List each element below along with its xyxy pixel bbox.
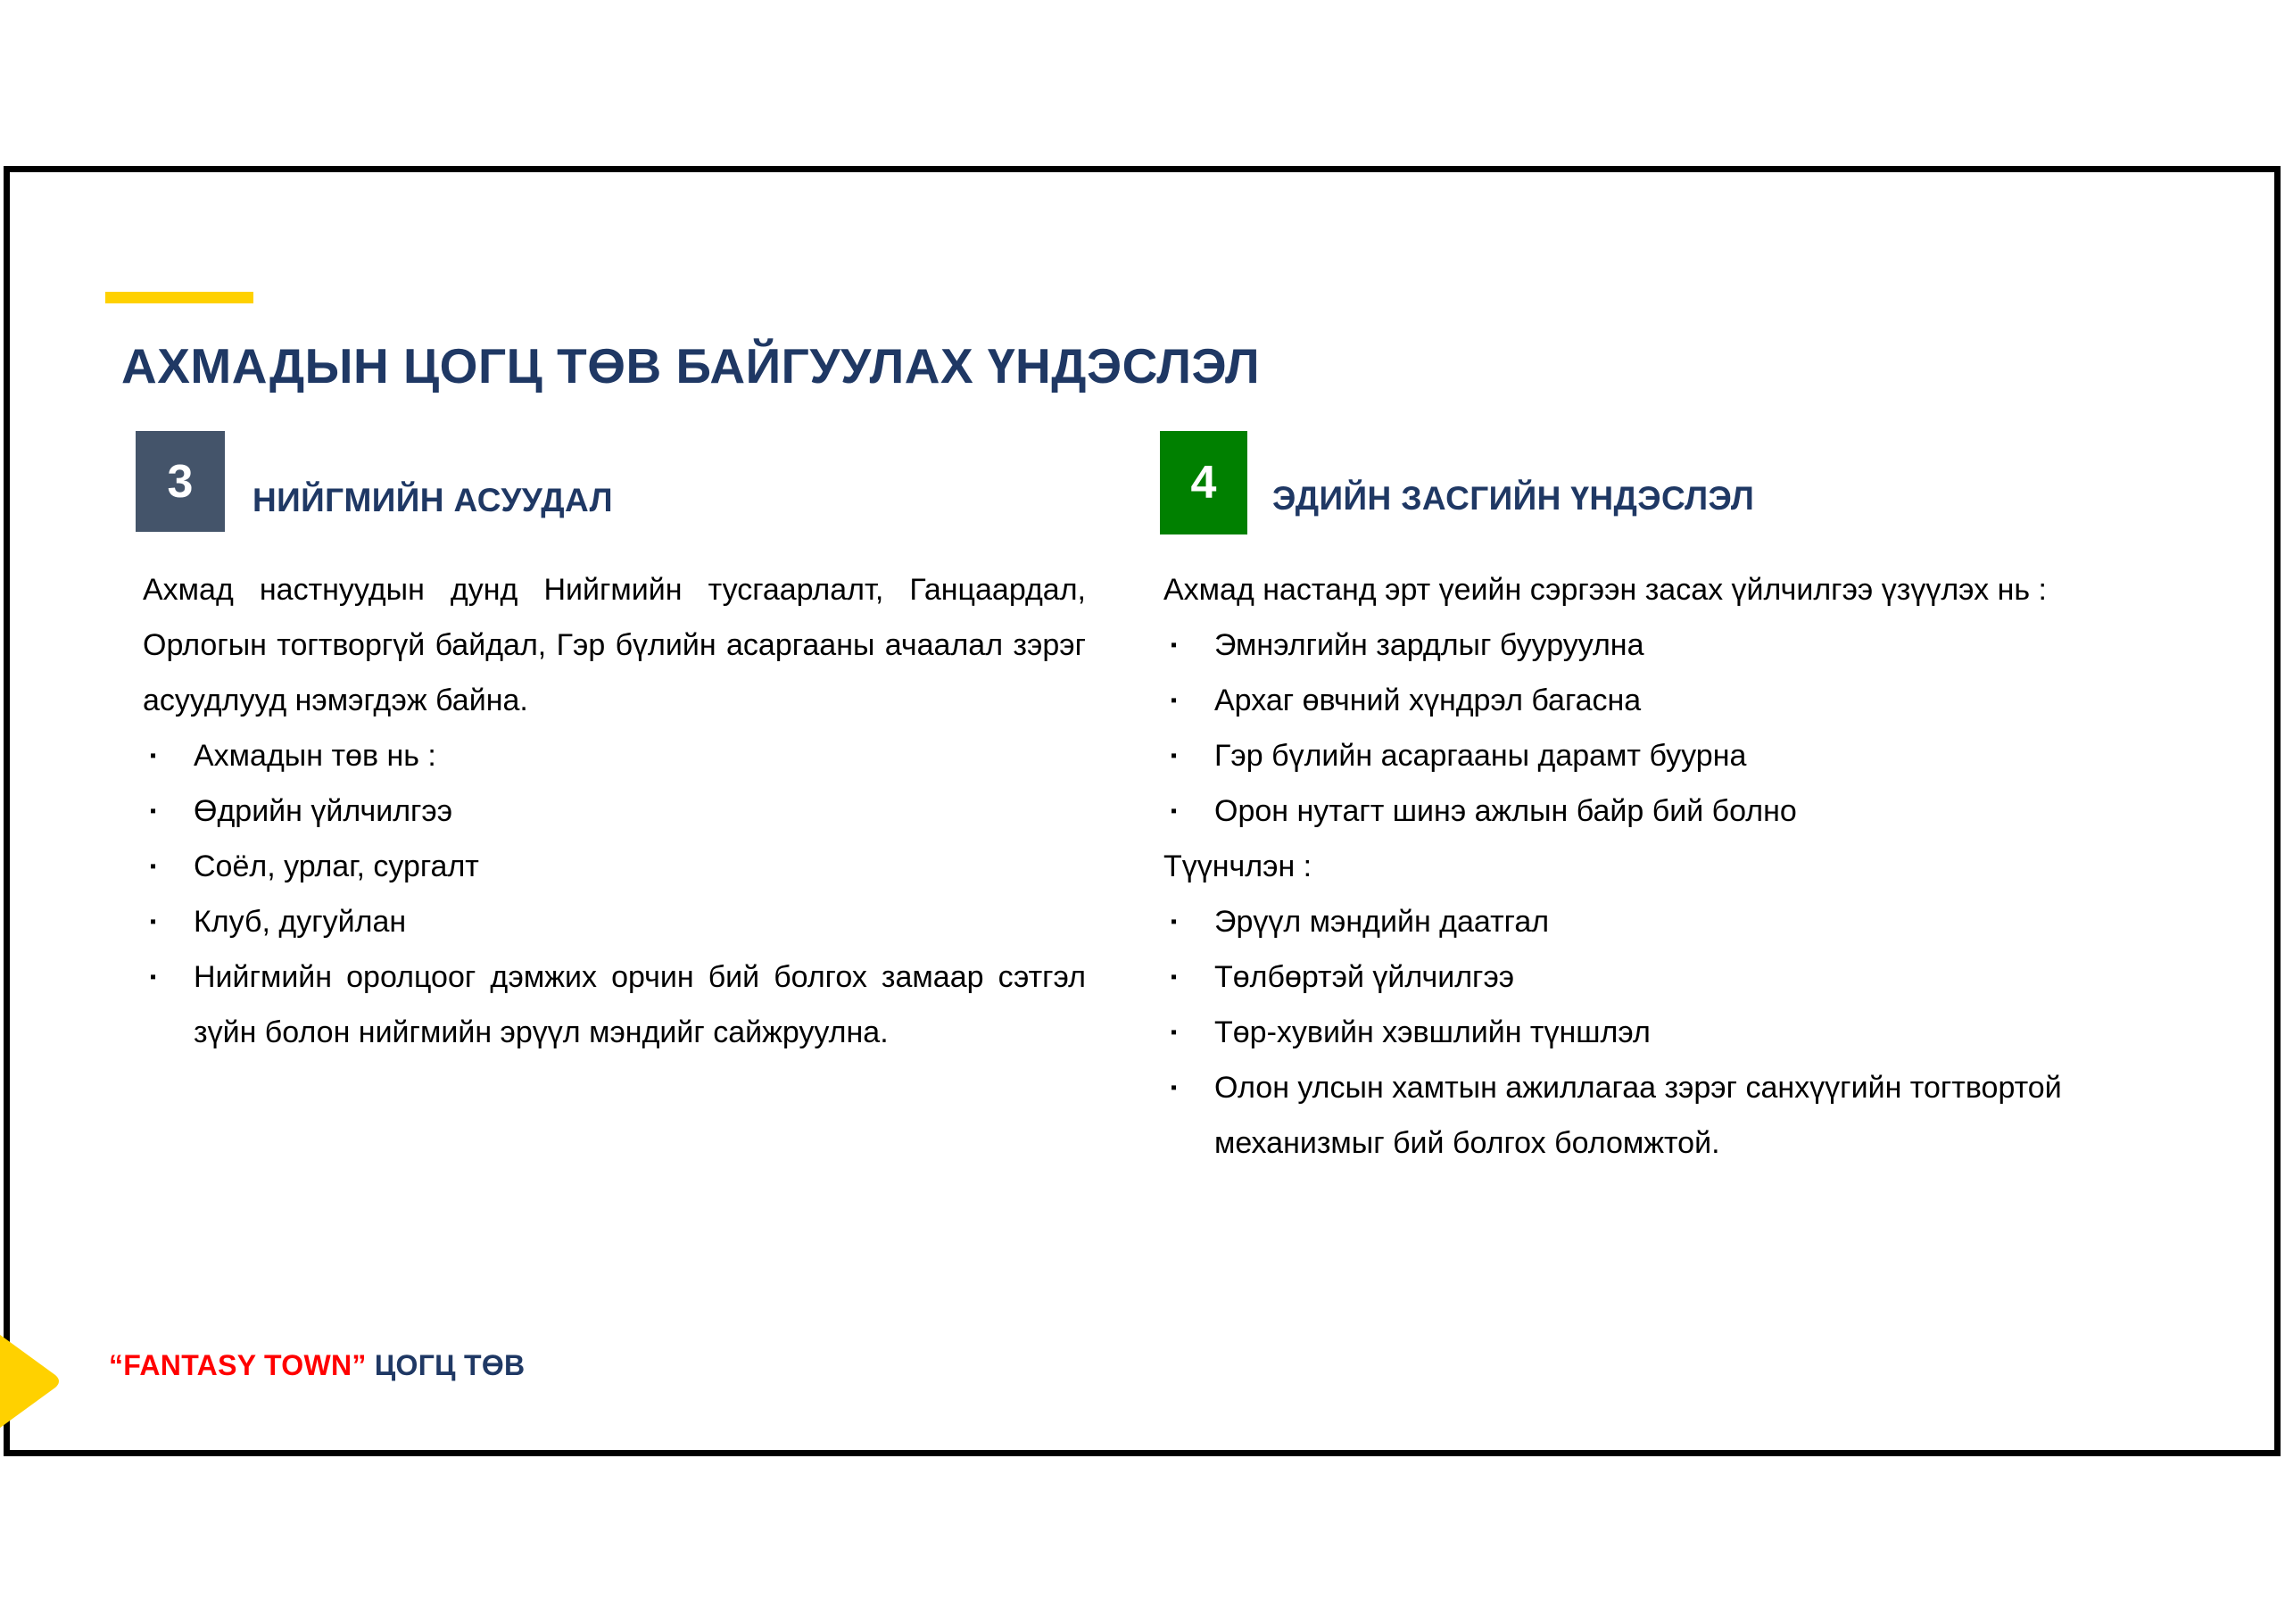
list-item-label: Соёл, урлаг, сургалт — [194, 839, 1086, 894]
column-left-bullet-list: ▪ Ахмадын төв нь : ▪ Өдрийн үйлчилгээ ▪ … — [143, 728, 1086, 1060]
column-right-header-label: ЭДИЙН ЗАСГИЙН ҮНДЭСЛЭЛ — [1247, 431, 1754, 515]
yellow-arrow-icon — [0, 1297, 61, 1466]
list-item-label: Өдрийн үйлчилгээ — [194, 783, 1086, 839]
list-item-label: Эмнэлгийн зардлыг бууруулна — [1214, 617, 2177, 673]
bullet-square-icon: ▪ — [1171, 783, 1177, 839]
bullet-square-icon: ▪ — [150, 949, 156, 1005]
column-left-header: 3 НИЙГМИЙН АСУУДАЛ — [136, 431, 1086, 536]
bullet-square-icon: ▪ — [150, 728, 156, 783]
column-right: 4 ЭДИЙН ЗАСГИЙН ҮНДЭСЛЭЛ Ахмад настанд э… — [1160, 431, 2177, 1171]
bullet-square-icon: ▪ — [1171, 894, 1177, 949]
title-accent-bar — [105, 292, 253, 303]
bullet-square-icon: ▪ — [1171, 949, 1177, 1005]
bullet-square-icon: ▪ — [150, 783, 156, 839]
column-right-header: 4 ЭДИЙН ЗАСГИЙН ҮНДЭСЛЭЛ — [1160, 431, 2177, 536]
list-item: ▪ Ахмадын төв нь : — [143, 728, 1086, 783]
bullet-square-icon: ▪ — [1171, 673, 1177, 728]
column-right-bullet-list-one: ▪ Эмнэлгийн зардлыг бууруулна ▪ Архаг өв… — [1163, 617, 2177, 839]
list-item: ▪ Олон улсын хамтын ажиллагаа зэрэг санх… — [1163, 1060, 2177, 1171]
column-left: 3 НИЙГМИЙН АСУУДАЛ Ахмад настнуудын дунд… — [136, 431, 1086, 1060]
list-item-label: Гэр бүлийн асаргааны дарамт буурна — [1214, 728, 2177, 783]
bullet-square-icon: ▪ — [1171, 728, 1177, 783]
column-right-intro: Ахмад настанд эрт үеийн сэргээн засах үй… — [1163, 562, 2177, 617]
list-item: ▪ Архаг өвчний хүндрэл багасна — [1163, 673, 2177, 728]
bullet-square-icon: ▪ — [1171, 1005, 1177, 1060]
list-item-label: Нийгмийн оролцоог дэмжих орчин бий болго… — [194, 949, 1086, 1060]
list-item-label: Эрүүл мэндийн даатгал — [1214, 894, 2177, 949]
list-item: ▪ Соёл, урлаг, сургалт — [143, 839, 1086, 894]
bullet-square-icon: ▪ — [150, 839, 156, 894]
column-left-body: Ахмад настнуудын дунд Нийгмийн тусгаарла… — [136, 562, 1086, 1060]
list-item: ▪ Гэр бүлийн асаргааны дарамт буурна — [1163, 728, 2177, 783]
list-item-label: Төлбөртэй үйлчилгээ — [1214, 949, 2177, 1005]
column-left-header-label: НИЙГМИЙН АСУУДАЛ — [225, 431, 613, 517]
list-item: ▪ Орон нутагт шинэ ажлын байр бий болно — [1163, 783, 2177, 839]
bullet-square-icon: ▪ — [150, 894, 156, 949]
badge-number-3: 3 — [136, 431, 225, 532]
list-item-label: Ахмадын төв нь : — [194, 728, 1086, 783]
bullet-square-icon: ▪ — [1171, 617, 1177, 673]
list-item-label: Клуб, дугуйлан — [194, 894, 1086, 949]
footer-brand-suffix: ЦОГЦ ТӨВ — [367, 1349, 526, 1381]
list-item-label: Орон нутагт шинэ ажлын байр бий болно — [1214, 783, 2177, 839]
list-item-label: Архаг өвчний хүндрэл багасна — [1214, 673, 2177, 728]
badge-number-4: 4 — [1160, 431, 1247, 534]
list-item: ▪ Клуб, дугуйлан — [143, 894, 1086, 949]
column-right-bullet-list-two: ▪ Эрүүл мэндийн даатгал ▪ Төлбөртэй үйлч… — [1163, 894, 2177, 1171]
list-item-label: Олон улсын хамтын ажиллагаа зэрэг санхүү… — [1214, 1060, 2177, 1171]
page-title: АХМАДЫН ЦОГЦ ТӨВ БАЙГУУЛАХ ҮНДЭСЛЭЛ — [121, 337, 2084, 394]
list-item: ▪ Нийгмийн оролцоог дэмжих орчин бий бол… — [143, 949, 1086, 1060]
bullet-square-icon: ▪ — [1171, 1060, 1177, 1115]
column-right-body: Ахмад настанд эрт үеийн сэргээн засах үй… — [1160, 562, 2177, 1171]
footer-fantasy-town-label: “FANTASY TOWN” ЦОГЦ ТӨВ — [109, 1349, 525, 1382]
column-right-subheading: Түүнчлэн : — [1163, 839, 2177, 894]
list-item: ▪ Төр-хувийн хэвшлийн түншлэл — [1163, 1005, 2177, 1060]
list-item: ▪ Эрүүл мэндийн даатгал — [1163, 894, 2177, 949]
list-item: ▪ Өдрийн үйлчилгээ — [143, 783, 1086, 839]
list-item: ▪ Эмнэлгийн зардлыг бууруулна — [1163, 617, 2177, 673]
list-item: ▪ Төлбөртэй үйлчилгээ — [1163, 949, 2177, 1005]
column-left-paragraph: Ахмад настнуудын дунд Нийгмийн тусгаарла… — [143, 562, 1086, 728]
footer-brand-name: “FANTASY TOWN” — [109, 1349, 367, 1381]
list-item-label: Төр-хувийн хэвшлийн түншлэл — [1214, 1005, 2177, 1060]
